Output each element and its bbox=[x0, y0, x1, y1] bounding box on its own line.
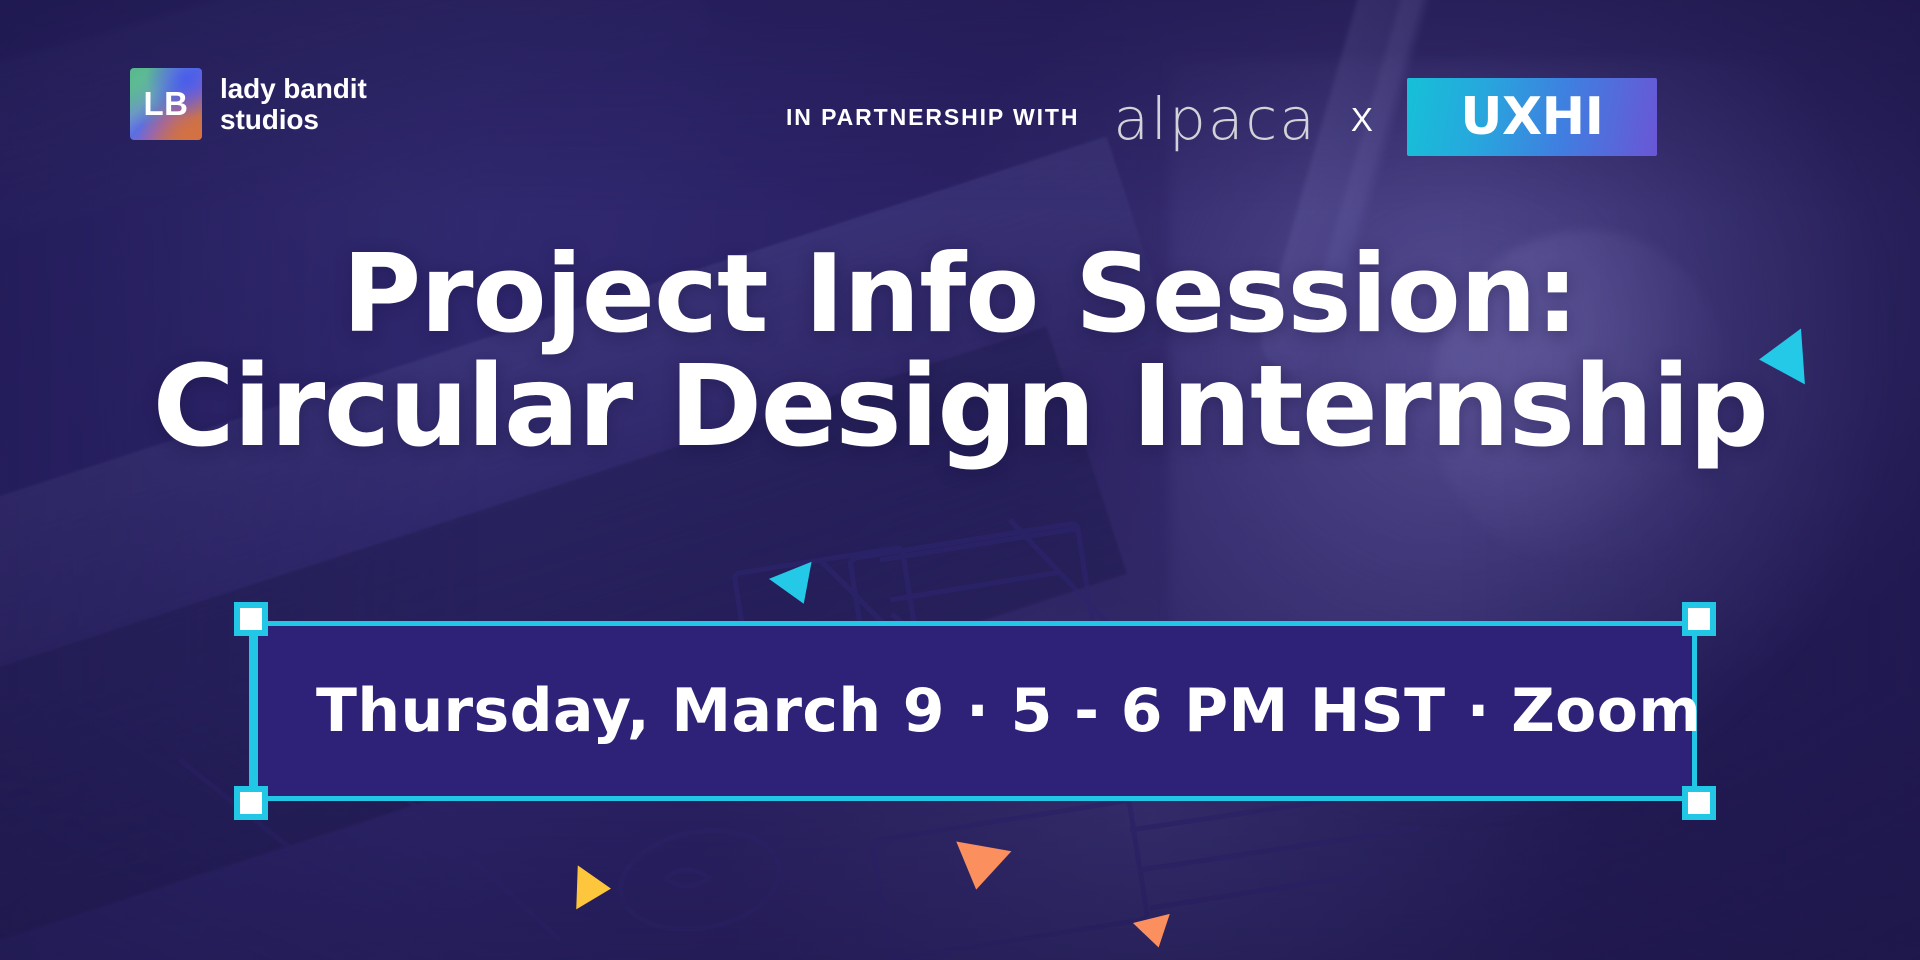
partnership-label: IN PARTNERSHIP WITH bbox=[786, 104, 1079, 131]
triangle-orange-down-large-icon bbox=[949, 841, 1012, 894]
page-title: Project Info Session: Circular Design In… bbox=[0, 240, 1920, 464]
partnership-lockup: IN PARTNERSHIP WITH alpaca X UXHI bbox=[786, 78, 1657, 156]
banner-header: LB lady bandit studios IN PARTNERSHIP WI… bbox=[0, 0, 1920, 170]
event-details-selection[interactable]: Thursday, March 9 · 5 - 6 PM HST · Zoom bbox=[253, 621, 1697, 801]
uxhi-logo: UXHI bbox=[1407, 78, 1657, 156]
selection-left-rail bbox=[249, 629, 256, 793]
selection-handle-bottom-left[interactable] bbox=[234, 786, 268, 820]
brand-name: lady bandit studios bbox=[220, 73, 367, 136]
selection-handle-bottom-right[interactable] bbox=[1682, 786, 1716, 820]
brand-lockup: LB lady bandit studios bbox=[130, 68, 367, 140]
selection-handle-top-right[interactable] bbox=[1682, 602, 1716, 636]
selection-handle-top-left[interactable] bbox=[234, 602, 268, 636]
event-details-bar[interactable]: Thursday, March 9 · 5 - 6 PM HST · Zoom bbox=[253, 621, 1697, 801]
headline-line-1: Project Info Session: bbox=[40, 240, 1880, 350]
partnership-separator-icon: X bbox=[1351, 103, 1373, 136]
headline-line-2: Circular Design Internship bbox=[40, 350, 1880, 464]
triangle-yellow-right-icon bbox=[576, 865, 612, 910]
triangle-cyan-left-icon bbox=[1757, 329, 1805, 388]
lady-bandit-logo-icon: LB bbox=[130, 68, 202, 140]
brand-monogram: LB bbox=[144, 85, 189, 123]
uxhi-logo-text: UXHI bbox=[1460, 91, 1603, 143]
alpaca-logo: alpaca bbox=[1113, 90, 1316, 148]
event-banner: LB lady bandit studios IN PARTNERSHIP WI… bbox=[0, 0, 1920, 960]
event-details-text: Thursday, March 9 · 5 - 6 PM HST · Zoom bbox=[258, 676, 1701, 746]
